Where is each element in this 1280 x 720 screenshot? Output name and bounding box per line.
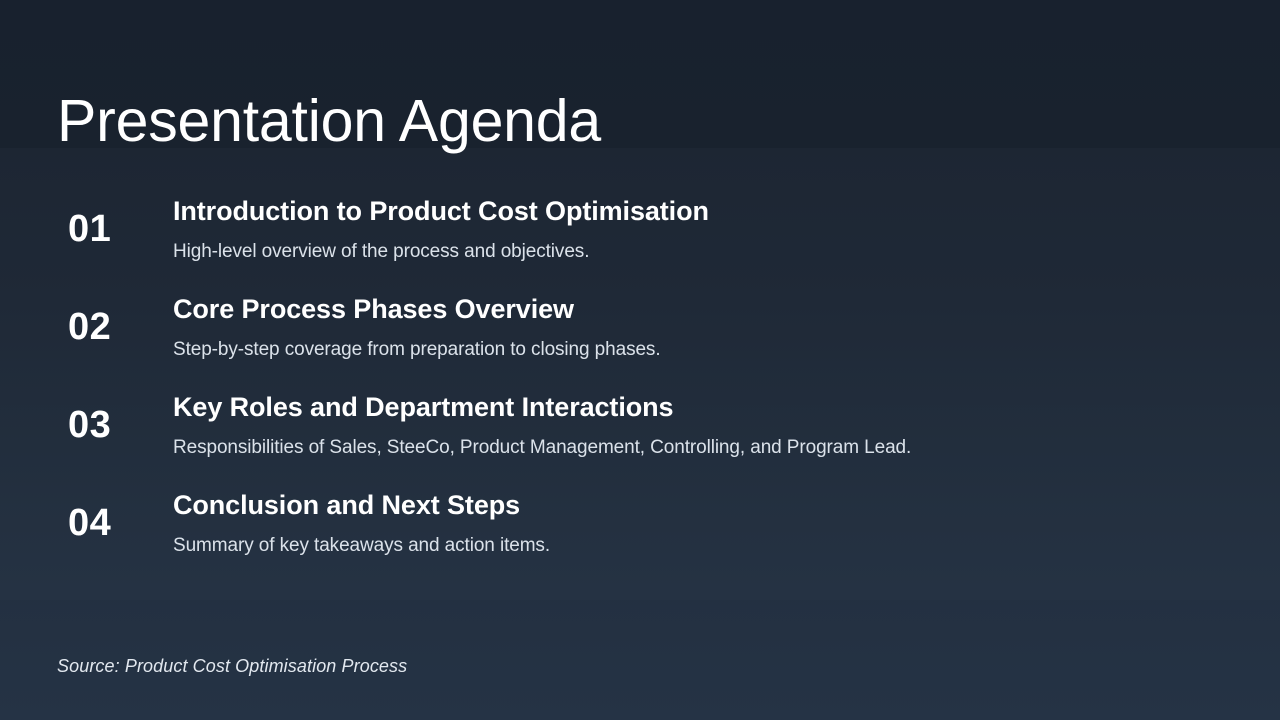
list-item: 02 Core Process Phases Overview Step-by-… xyxy=(0,294,1280,392)
agenda-item-body: Key Roles and Department Interactions Re… xyxy=(173,392,1240,460)
agenda-item-heading: Conclusion and Next Steps xyxy=(173,490,1240,522)
agenda-item-description: Step-by-step coverage from preparation t… xyxy=(173,339,1240,362)
agenda-item-description: High-level overview of the process and o… xyxy=(173,241,1240,264)
agenda-item-heading: Key Roles and Department Interactions xyxy=(173,392,1240,424)
agenda-item-body: Introduction to Product Cost Optimisatio… xyxy=(173,196,1240,264)
agenda-item-number: 04 xyxy=(68,504,160,542)
source-note: Source: Product Cost Optimisation Proces… xyxy=(57,656,407,677)
agenda-item-description: Responsibilities of Sales, SteeCo, Produ… xyxy=(173,437,1240,460)
agenda-item-number: 03 xyxy=(68,406,160,444)
presentation-slide: Presentation Agenda 01 Introduction to P… xyxy=(0,0,1280,720)
page-title: Presentation Agenda xyxy=(57,92,601,151)
agenda-item-body: Conclusion and Next Steps Summary of key… xyxy=(173,490,1240,558)
list-item: 01 Introduction to Product Cost Optimisa… xyxy=(0,196,1280,294)
agenda-item-number: 02 xyxy=(68,308,160,346)
agenda-item-description: Summary of key takeaways and action item… xyxy=(173,535,1240,558)
agenda-item-body: Core Process Phases Overview Step-by-ste… xyxy=(173,294,1240,362)
agenda-item-heading: Core Process Phases Overview xyxy=(173,294,1240,326)
agenda-item-number: 01 xyxy=(68,210,160,248)
agenda-item-heading: Introduction to Product Cost Optimisatio… xyxy=(173,196,1240,228)
list-item: 04 Conclusion and Next Steps Summary of … xyxy=(0,490,1280,588)
agenda-list: 01 Introduction to Product Cost Optimisa… xyxy=(0,196,1280,588)
list-item: 03 Key Roles and Department Interactions… xyxy=(0,392,1280,490)
